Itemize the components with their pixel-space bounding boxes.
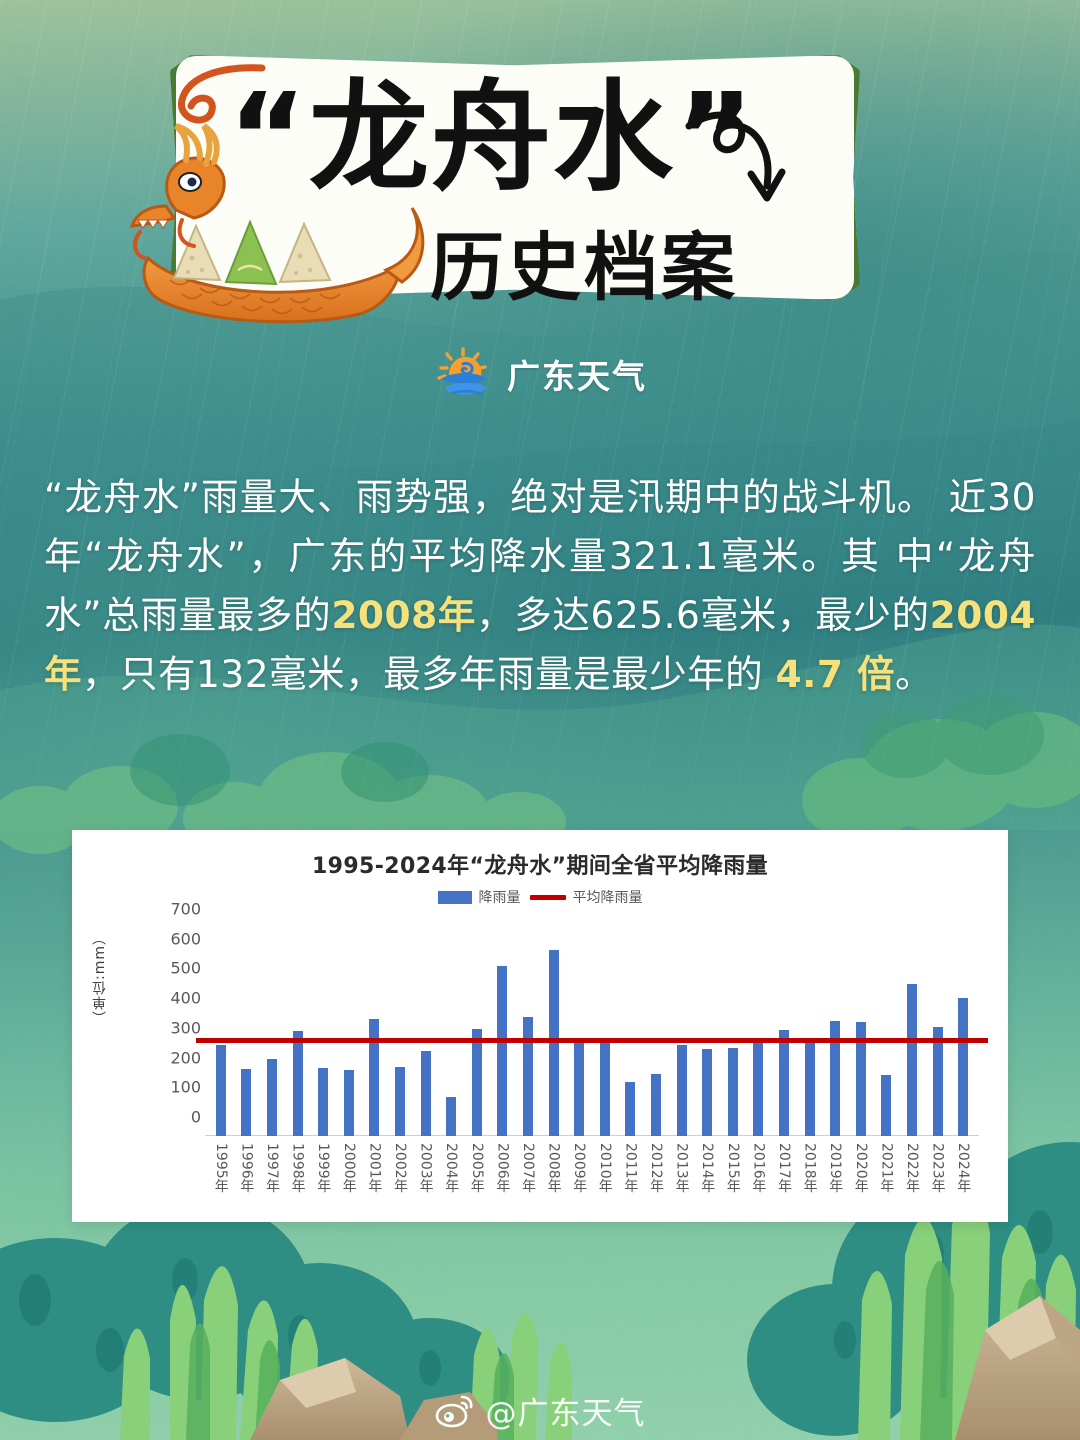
chart-bar [881,1075,891,1137]
footer-watermark: @广东天气 [0,1388,1080,1433]
paragraph-line-3b: ，多达625.6毫米，最少 [476,593,891,637]
chart-bar [446,1097,456,1136]
x-axis-tick: 2018年 [800,1143,820,1193]
chart-bar [753,1038,763,1136]
chart-legend: 降雨量 平均降雨量 [72,887,1008,907]
chart-bar [421,1051,431,1136]
average-rainfall-line [196,1038,988,1043]
x-axis-tick: 1998年 [288,1143,308,1193]
chart-bar [395,1067,405,1136]
x-axis-tick: 2013年 [672,1143,692,1193]
legend-item-average: 平均降雨量 [530,887,643,907]
x-axis-tick: 2002年 [390,1143,410,1193]
x-axis-tick: 2009年 [569,1143,589,1193]
x-axis-tick: 2000年 [339,1143,359,1193]
x-axis-tick: 2016年 [748,1143,768,1193]
highlight-ratio: 4.7 倍 [776,652,896,696]
x-axis-tick: 2011年 [620,1143,640,1193]
x-axis-tick: 1996年 [236,1143,256,1193]
y-axis-tick: 200 [170,1048,201,1067]
chart-bar [779,1030,789,1136]
chart-bar [472,1029,482,1136]
y-axis-tick: 400 [170,989,201,1008]
x-axis-tick: 1999年 [313,1143,333,1193]
x-axis-tick: 2003年 [416,1143,436,1193]
brand-logo: 广东天气 [0,345,1080,403]
x-axis-tick: 2024年 [953,1143,973,1193]
chart-card: 1995-2024年“龙舟水”期间全省平均降雨量 降雨量 平均降雨量 （单位:m… [72,830,1008,1222]
legend-item-rainfall: 降雨量 [438,887,521,907]
y-axis-tick: 0 [191,1108,201,1127]
chart-bar [702,1049,712,1136]
sun-wave-logo-icon [433,345,495,403]
x-axis-tick: 2007年 [518,1143,538,1193]
legend-line-swatch [530,895,566,900]
x-axis-tick: 2010年 [595,1143,615,1193]
paragraph-line-4a: 的 [891,593,929,637]
dragon-boat-icon [130,130,430,330]
weibo-icon [435,1393,475,1429]
x-axis-tick: 2014年 [697,1143,717,1193]
page-subtitle: 历史档案 [430,208,738,315]
y-axis-tick: 600 [170,929,201,948]
chart-bar [677,1045,687,1136]
x-axis-tick: 2012年 [646,1143,666,1193]
chart-bar [907,984,917,1136]
x-axis-tick: 2019年 [825,1143,845,1193]
chart-bar [216,1045,226,1136]
chart-bar [369,1019,379,1136]
chart-bar [267,1059,277,1136]
chart-bar [344,1070,354,1136]
paragraph-line-4c: 。 [895,652,933,696]
legend-bar-swatch [438,891,472,904]
y-axis-tick: 300 [170,1018,201,1037]
chart-bar [293,1031,303,1136]
x-axis-tick: 2004年 [441,1143,461,1193]
chart-bar [318,1068,328,1136]
x-axis-tick: 2022年 [902,1143,922,1193]
y-axis-label: （单位:mm） [90,930,116,1025]
curved-arrow-icon [683,102,798,212]
legend-label-rainfall: 降雨量 [479,887,521,907]
chart-bar [805,1039,815,1136]
chart-bar [497,966,507,1136]
chart-plot-area: 01002003004005006007001995年1996年1997年199… [208,928,976,1136]
x-axis-tick: 2021年 [876,1143,896,1193]
chart-bar [600,1039,610,1136]
chart-bar [523,1017,533,1136]
highlight-year-2008: 2008年 [331,593,476,637]
chart-bar [651,1074,661,1136]
chart-bar [241,1069,251,1136]
x-axis-tick: 1995年 [211,1143,231,1193]
x-axis-tick: 2006年 [492,1143,512,1193]
footer-handle: @广东天气 [486,1388,646,1433]
body-paragraph: “龙舟水”雨量大、雨势强，绝对是汛期中的战斗机。 近30年“龙舟水”，广东的平均… [44,468,1036,704]
chart-title: 1995-2024年“龙舟水”期间全省平均降雨量 [72,848,1008,880]
y-axis-tick: 500 [170,959,201,978]
x-axis-tick: 2015年 [723,1143,743,1193]
y-axis-tick: 100 [170,1078,201,1097]
chart-bar [574,1038,584,1136]
x-axis-tick: 2023年 [928,1143,948,1193]
x-axis-tick: 2017年 [774,1143,794,1193]
x-axis-tick: 2005年 [467,1143,487,1193]
x-axis-tick: 2001年 [364,1143,384,1193]
x-axis-tick: 2020年 [851,1143,871,1193]
chart-bar [958,998,968,1136]
brand-name: 广东天气 [507,350,647,398]
paragraph-line-4b: ，只有132毫米，最多年雨量是最少年的 [82,652,776,696]
x-axis-tick: 2008年 [544,1143,564,1193]
y-axis-tick: 700 [170,900,201,919]
chart-bar [728,1048,738,1136]
chart-bar [625,1082,635,1136]
legend-label-average: 平均降雨量 [573,887,643,907]
x-axis-tick: 1997年 [262,1143,282,1193]
paragraph-line-1: “龙舟水”雨量大、雨势强，绝对是汛期中的战斗机。 [44,475,936,519]
